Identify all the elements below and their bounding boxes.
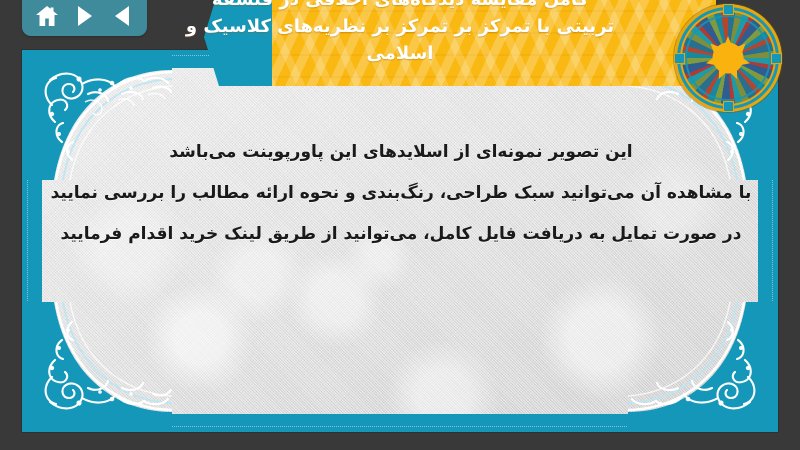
medallion-stud-left	[674, 53, 685, 64]
islamic-medallion-icon	[674, 4, 782, 112]
slide-body-line-1: این تصویر نمونه‌ای از اسلایدهای این پاور…	[46, 132, 756, 173]
slide-body-line-2: با مشاهده آن می‌توانید سبک طراحی، رنگ‌بن…	[46, 173, 756, 214]
medallion-stud-top	[723, 4, 734, 15]
triangle-right-icon	[78, 6, 92, 26]
home-button[interactable]	[32, 3, 62, 29]
page-title-line-3: اسلامی	[10, 40, 790, 67]
slide-preview-stage: کامل مقایسه دیدگاه‌های اخلاقی در فلسفه ت…	[0, 0, 800, 450]
triangle-left-icon	[115, 6, 129, 26]
home-icon	[35, 5, 59, 27]
medallion-stud-bottom	[723, 101, 734, 112]
back-button[interactable]	[107, 3, 137, 29]
slide-body-text: این تصویر نمونه‌ای از اسلایدهای این پاور…	[46, 132, 756, 255]
forward-button[interactable]	[70, 3, 100, 29]
navigation-controls	[22, 0, 147, 36]
medallion-stud-right	[771, 53, 782, 64]
slide-body-line-3: در صورت تمایل به دریافت فایل کامل، می‌تو…	[46, 214, 756, 255]
